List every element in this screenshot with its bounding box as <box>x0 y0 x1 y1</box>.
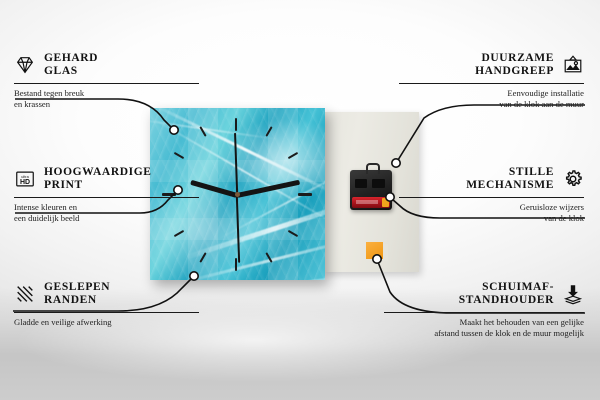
foam-spacer-pad <box>366 242 383 259</box>
feature-header: GEHARDGLAS <box>14 52 199 78</box>
feature-gehard-glas: GEHARDGLAS Bestand tegen breuken krassen <box>14 52 199 109</box>
framed-picture-icon <box>562 54 584 76</box>
connector-duurzame-handgreep <box>398 105 585 160</box>
feature-header: GESLEPENRANDEN <box>14 281 199 307</box>
svg-text:HD: HD <box>20 179 30 186</box>
mechanism-slot <box>355 179 367 188</box>
feature-title: GEHARDGLAS <box>44 52 98 78</box>
feature-hoogwaardige-print: ultra HD HOOGWAARDIGEPRINT Intense kleur… <box>14 166 199 223</box>
battery-label <box>356 200 378 204</box>
feature-divider <box>384 312 584 313</box>
feature-header: STILLEMECHANISME <box>399 166 584 192</box>
clock-center-cap <box>235 192 240 197</box>
feature-duurzame-handgreep: DUURZAMEHANDGREEP Eenvoudige installatie… <box>399 52 584 109</box>
feature-title: SCHUIMAF-STANDHOUDER <box>384 281 554 307</box>
feature-stille-mechanisme: STILLEMECHANISME Geruisloze wijzersvan d… <box>399 166 584 223</box>
battery-positive-terminal <box>382 198 389 207</box>
feature-description: Geruisloze wijzersvan de klok <box>399 202 584 223</box>
feature-divider <box>14 197 199 198</box>
feature-divider <box>14 312 199 313</box>
feature-description: Eenvoudige installatievan de klok aan de… <box>399 88 584 109</box>
feature-description: Gladde en veilige afwerking <box>14 317 199 328</box>
clock-tick <box>235 258 237 271</box>
diamond-icon <box>14 54 36 76</box>
ultra-hd-icon: ultra HD <box>14 168 36 190</box>
diagonal-lines-icon <box>14 283 36 305</box>
battery <box>352 197 390 208</box>
feature-header: DUURZAMEHANDGREEP <box>399 52 584 78</box>
feature-title: STILLEMECHANISME <box>399 166 554 192</box>
feature-title: HOOGWAARDIGEPRINT <box>44 166 152 192</box>
feature-header: SCHUIMAF-STANDHOUDER <box>384 281 584 307</box>
feature-title: DUURZAMEHANDGREEP <box>399 52 554 78</box>
press-down-pad-icon <box>562 283 584 305</box>
feature-divider <box>14 83 199 84</box>
clock-tick <box>235 118 237 131</box>
feature-geslepen-randen: GESLEPENRANDEN Gladde en veilige afwerki… <box>14 281 199 328</box>
mechanism-shaft <box>366 163 380 174</box>
infographic-stage: GEHARDGLAS Bestand tegen breuken krassen… <box>0 0 600 400</box>
feature-description: Bestand tegen breuken krassen <box>14 88 199 109</box>
feature-title: GESLEPENRANDEN <box>44 281 110 307</box>
feature-divider <box>399 197 584 198</box>
feature-header: ultra HD HOOGWAARDIGEPRINT <box>14 166 199 192</box>
feature-schuimafstandhouder: SCHUIMAF-STANDHOUDER Maakt het behouden … <box>384 281 584 338</box>
feature-description: Intense kleuren eneen duidelijk beeld <box>14 202 199 223</box>
foam-pad-shadow <box>383 244 388 261</box>
mechanism-slot <box>372 179 385 188</box>
clock-tick <box>298 193 312 196</box>
feature-divider <box>399 83 584 84</box>
gear-icon <box>562 168 584 190</box>
feature-description: Maakt het behouden van een gelijkeafstan… <box>384 317 584 338</box>
